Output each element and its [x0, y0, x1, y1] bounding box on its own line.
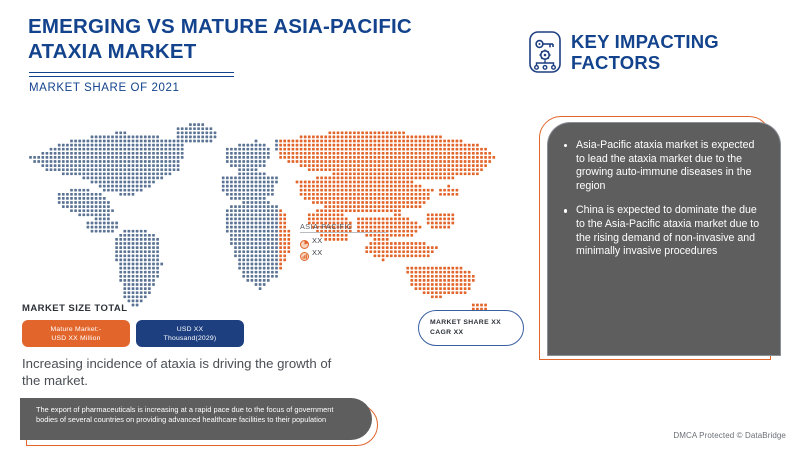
key-factors-list: Asia-Pacific ataxia market is expected t… [558, 139, 766, 259]
pie-chart-icon [300, 236, 309, 245]
legend-label-line1: Mature Market:- [51, 326, 102, 333]
legend-pill-emerging-market: USD XX Thousand(2029) [136, 320, 244, 347]
market-size-title: MARKET SIZE TOTAL [22, 303, 127, 314]
key-factors-card: Asia-Pacific ataxia market is expected t… [548, 123, 780, 355]
infographic-canvas: EMERGING VS MATURE ASIA-PACIFIC ATAXIA M… [0, 0, 800, 450]
list-item: Asia-Pacific ataxia market is expected t… [574, 139, 766, 193]
world-dot-map [10, 100, 530, 315]
legend-label-line2: USD XX Million [51, 335, 100, 342]
legend-label-line1: USD XX [177, 326, 204, 333]
key-factors-title: KEY IMPACTING FACTORS [571, 31, 800, 73]
asia-pacific-metric-row: XX [300, 236, 420, 245]
asia-pacific-leader-line [300, 232, 388, 233]
asia-pacific-label: ASIA-PACIFIC [300, 222, 420, 231]
legend-pill-mature-market: Mature Market:- USD XX Million [22, 320, 130, 347]
page-title: EMERGING VS MATURE ASIA-PACIFIC ATAXIA M… [28, 14, 468, 64]
page-subtitle: MARKET SHARE OF 2021 [29, 82, 179, 94]
asia-pacific-callout: ASIA-PACIFIC XX XX [300, 222, 420, 257]
asia-pacific-value-2: XX [312, 248, 322, 257]
title-divider [29, 72, 234, 77]
market-share-badge: MARKET SHARE XX CAGR XX [418, 310, 524, 346]
footer-credit: DMCA Protected © DataBridge [673, 431, 786, 440]
lead-statement: Increasing incidence of ataxia is drivin… [22, 355, 352, 389]
list-item: China is expected to dominate the due to… [574, 204, 766, 258]
market-share-line: MARKET SHARE XX [430, 318, 523, 328]
key-factors-header: KEY IMPACTING FACTORS [528, 30, 800, 74]
key-gear-network-icon [528, 30, 562, 74]
bar-chart-icon [300, 248, 309, 257]
legend-label-line2: Thousand(2029) [164, 335, 217, 342]
bottom-note: The export of pharmaceuticals is increas… [20, 398, 372, 440]
cagr-line: CAGR XX [430, 328, 523, 338]
asia-pacific-metric-row: XX [300, 248, 420, 257]
asia-pacific-value-1: XX [312, 236, 322, 245]
